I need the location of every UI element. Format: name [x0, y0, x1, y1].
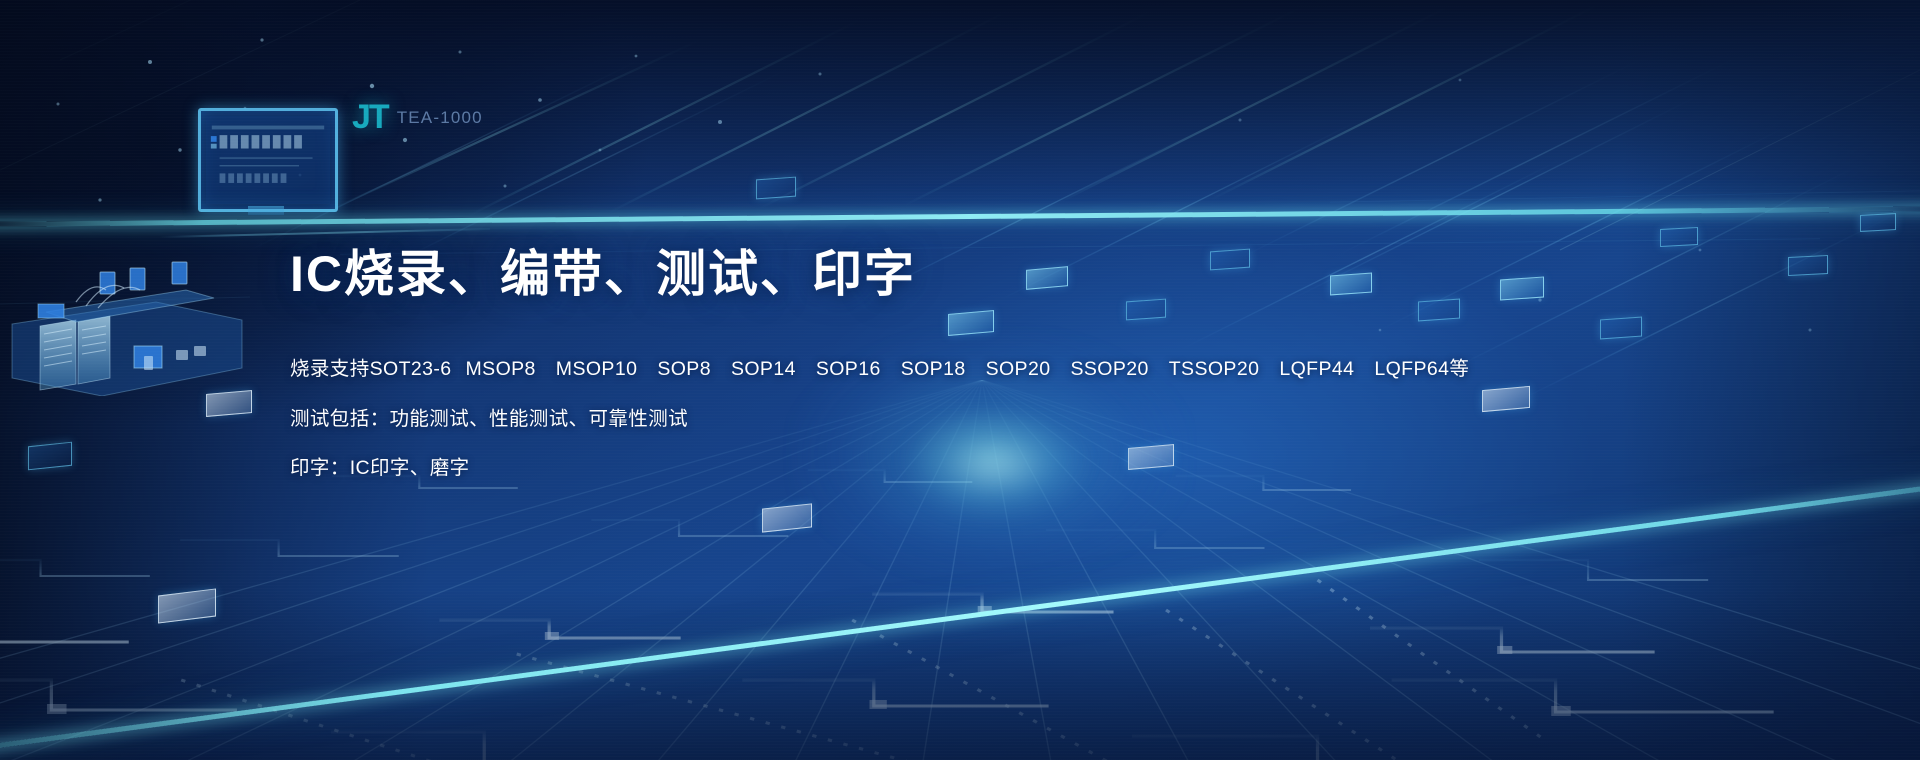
testing-line: 测试包括：功能测试、性能测试、可靠性测试: [290, 410, 1610, 430]
monitor-screen-content: [206, 116, 330, 204]
package-chip-sop14: SOP14: [731, 360, 796, 380]
marking-line: 印字：IC印字、磨字: [290, 459, 1610, 479]
banner-subtext-list: 烧录支持SOT23-6 MSOP8 MSOP10 SOP8 SOP14 SOP1…: [290, 360, 1610, 479]
ic-service-banner: JT TEA-1000: [0, 0, 1920, 760]
package-chip-msop10: MSOP10: [556, 360, 638, 380]
package-chip-lqfp64: LQFP64等: [1374, 360, 1469, 380]
packages-line: 烧录支持SOT23-6 MSOP8 MSOP10 SOP8 SOP14 SOP1…: [290, 360, 1610, 380]
package-chip-tssop20: TSSOP20: [1169, 360, 1260, 380]
monitor-stand: [248, 206, 284, 215]
package-chip-sop18: SOP18: [901, 360, 966, 380]
packages-lead-label: 烧录支持SOT23-6: [290, 360, 452, 380]
banner-text-block: IC烧录、编带、测试、印字 烧录支持SOT23-6 MSOP8 MSOP10 S…: [290, 246, 1610, 479]
package-chip-sop16: SOP16: [816, 360, 881, 380]
package-chip-msop8: MSOP8: [466, 360, 536, 380]
brand-mark-text: JT: [352, 100, 388, 134]
brand-model-text: TEA-1000: [397, 109, 483, 126]
floating-chip-1: [206, 390, 252, 417]
floating-chip-2: [28, 442, 72, 471]
package-chip-ssop20: SSOP20: [1070, 360, 1148, 380]
package-chip-sop8: SOP8: [657, 360, 711, 380]
floating-chip-3: [756, 177, 796, 200]
monitor-display: [198, 108, 338, 212]
package-chip-lqfp44: LQFP44: [1279, 360, 1354, 380]
floating-chip-17: [1788, 255, 1828, 276]
floating-chip-16: [1660, 227, 1698, 247]
package-chip-sop20: SOP20: [986, 360, 1051, 380]
brand-logo: JT TEA-1000: [352, 100, 483, 134]
page-title: IC烧录、编带、测试、印字: [290, 246, 1610, 302]
floating-chip-18: [1860, 213, 1896, 232]
production-machine-illustration: [6, 228, 246, 396]
